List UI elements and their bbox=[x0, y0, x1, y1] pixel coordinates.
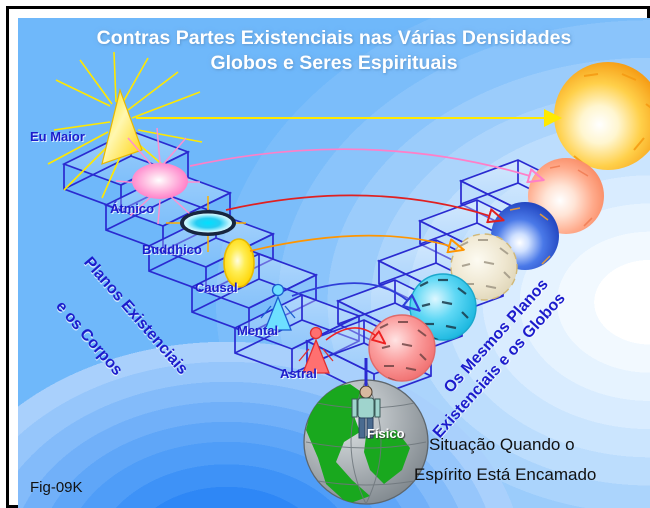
title-line-2: Globos e Seres Espirituais bbox=[18, 51, 650, 76]
plane-label-buddhico: Buddhico bbox=[142, 242, 202, 257]
plane-label-fisico: Físico bbox=[367, 426, 405, 441]
plane-label-atmico: Átmico bbox=[110, 201, 154, 216]
plane-label-causal: Causal bbox=[195, 280, 238, 295]
figure-outer-border: Contras Partes Existenciais nas Várias D… bbox=[0, 0, 650, 508]
title-line-1: Contras Partes Existenciais nas Várias D… bbox=[18, 26, 650, 51]
arrow-atmico-to-salmon bbox=[190, 149, 530, 176]
cyan-disc-icon bbox=[184, 214, 232, 233]
globe-sun bbox=[554, 62, 650, 170]
plane-label-mental: Mental bbox=[237, 323, 278, 338]
page-title: Contras Partes Existenciais nas Várias D… bbox=[18, 26, 650, 76]
figure-black-frame: Contras Partes Existenciais nas Várias D… bbox=[6, 6, 650, 508]
globe-red bbox=[369, 315, 435, 381]
figure-canvas: Contras Partes Existenciais nas Várias D… bbox=[18, 18, 650, 508]
plane-label-astral: Astral bbox=[280, 366, 317, 381]
pink-orb-icon bbox=[132, 163, 188, 199]
caption-line-2: Espírito Está Encamado bbox=[414, 465, 596, 485]
caption-line-1: Situação Quando o bbox=[429, 435, 575, 455]
figure-id-label: Fig-09K bbox=[30, 479, 83, 496]
plane-label-eu-maior: Eu Maior bbox=[30, 129, 85, 144]
